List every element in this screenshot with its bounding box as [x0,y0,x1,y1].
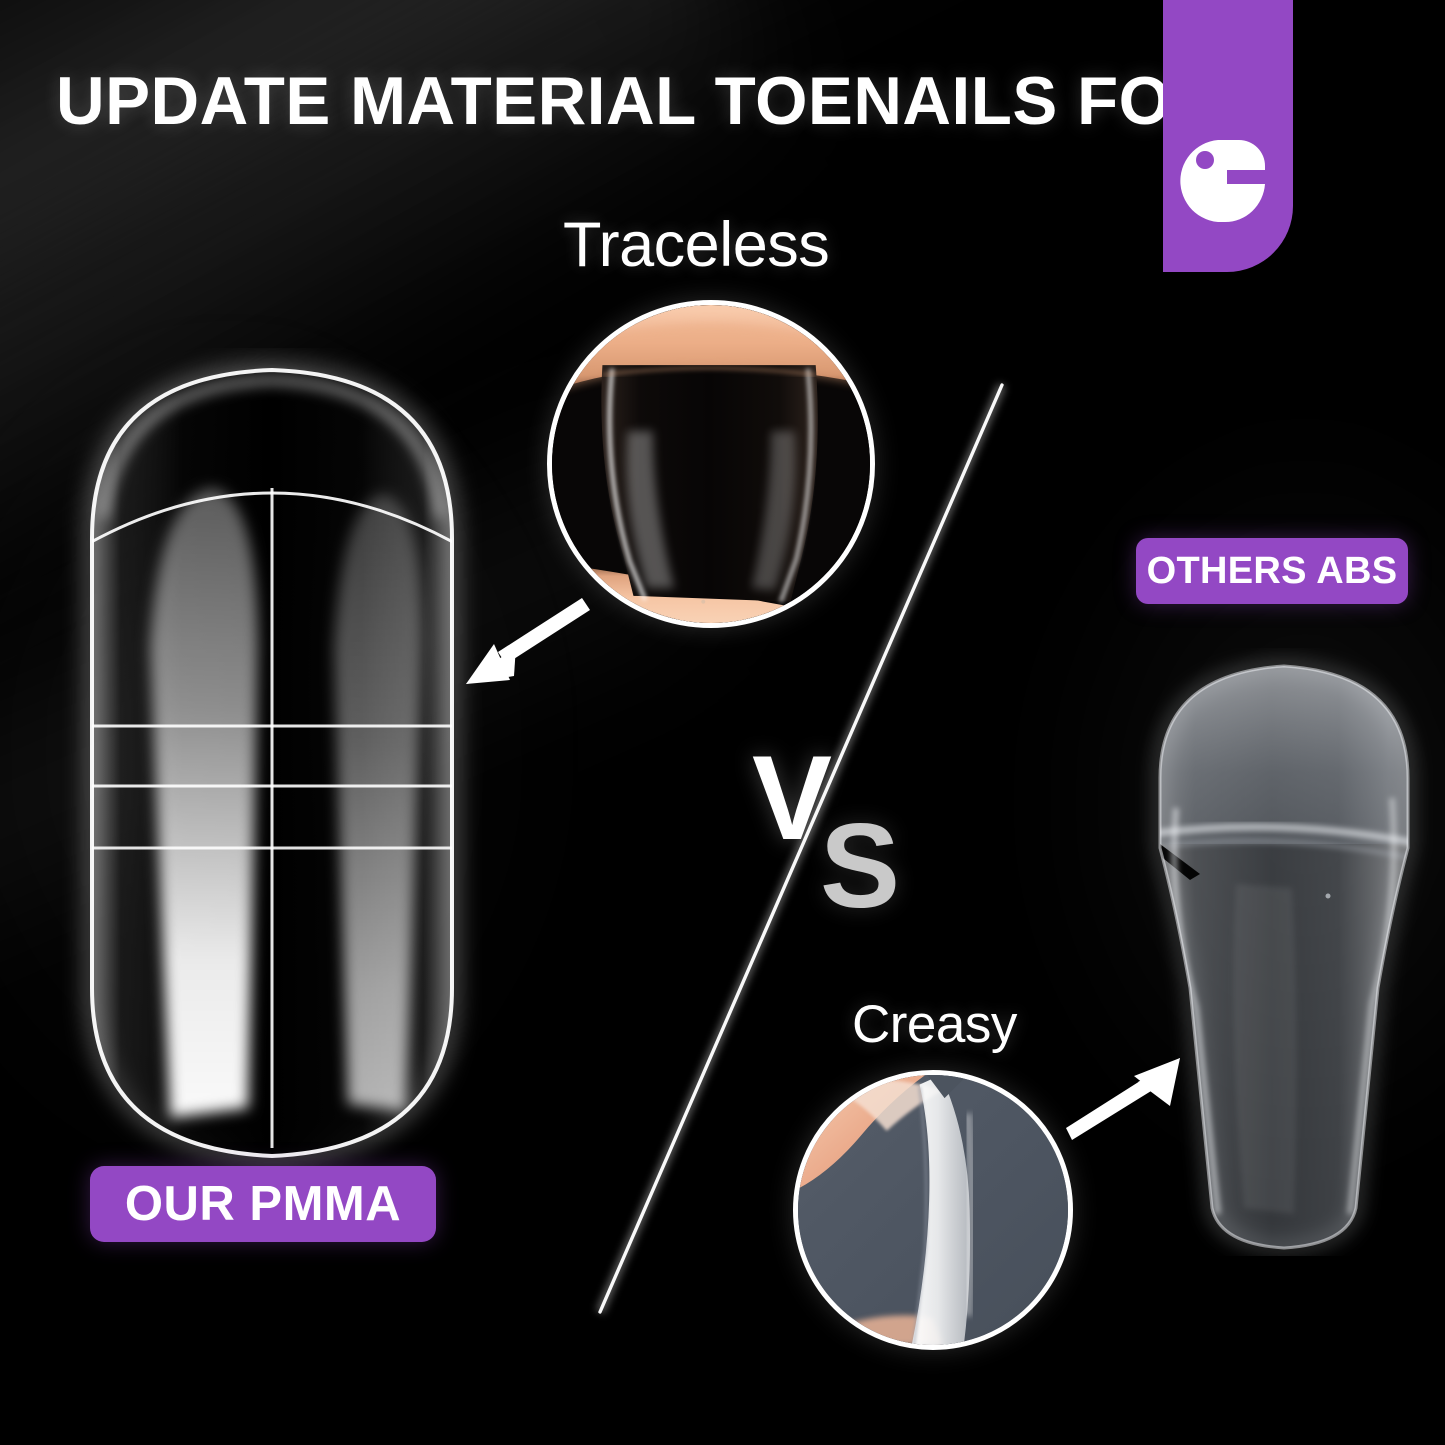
infographic-canvas: UPDATE MATERIAL TOENAILS FORM [0,0,1445,1445]
chameleon-logo-icon [1177,140,1265,222]
vs-letter-s: S [820,806,900,926]
pmma-product-image [62,348,482,1168]
creasy-closeup-photo [793,1070,1073,1350]
badge-our-pmma[interactable]: OUR PMMA [90,1166,436,1242]
page-title: UPDATE MATERIAL TOENAILS FORM [56,66,1155,137]
caption-traceless: Traceless [563,209,829,281]
abs-product-image [1124,648,1444,1256]
caption-creasy: Creasy [852,994,1017,1055]
badge-others-abs[interactable]: OTHERS ABS [1136,538,1408,604]
traceless-closeup-photo [547,300,875,628]
brand-logo-banner [1163,0,1293,272]
